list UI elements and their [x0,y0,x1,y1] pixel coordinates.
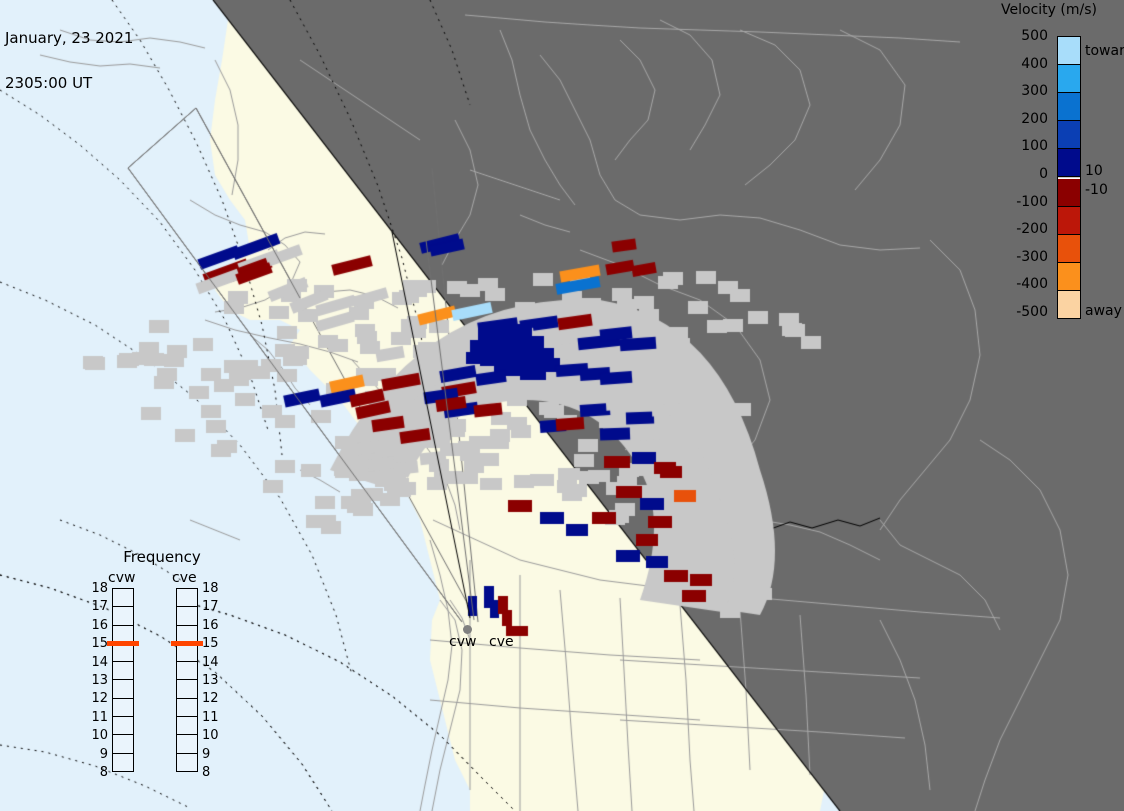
colorbar-away-label: away [1085,304,1122,318]
frequency-bar-segment [113,680,133,698]
velocity-colorbar: Velocity (m/s) 5004003002001000-100-200-… [975,0,1124,340]
frequency-bar-segment [177,754,197,771]
frequency-bar-segment [177,644,197,662]
frequency-tick-label-left: 13 [88,674,108,687]
timestamp-title: January, 23 2021 2305:00 UT [5,1,133,121]
frequency-tick-label-left: 18 [88,582,108,595]
frequency-bar-segment [177,589,197,607]
colorbar-band [1058,120,1080,148]
frequency-tick-label-left: 12 [88,692,108,705]
colorbar-tick-label: -300 [988,250,1048,264]
frequency-marker-cve [171,641,203,646]
title-time: 2305:00 UT [5,76,133,91]
colorbar-tick-label: -200 [988,222,1048,236]
frequency-tick-label-right: 18 [202,582,219,595]
colorbar-band [1058,290,1080,318]
frequency-bar-segment [177,717,197,735]
radar-site-label-cvw: cvw [449,634,476,650]
frequency-bar-segment [177,662,197,680]
colorbar-tick-label: 400 [988,57,1048,71]
frequency-bar-segment [113,717,133,735]
colorbar-tick-label: -500 [988,305,1048,319]
colorbar-band [1058,37,1080,64]
colorbar-band [1058,148,1080,176]
frequency-tick-label-right: 11 [202,711,219,724]
frequency-bar-segment [177,607,197,625]
frequency-legend-title: Frequency [84,548,240,566]
frequency-tick-label-right: 9 [202,748,210,761]
colorbar-band [1058,179,1080,206]
frequency-bar-cve [176,588,198,772]
frequency-tick-label-left: 11 [88,711,108,724]
frequency-bar-cvw [112,588,134,772]
frequency-tick-label-right: 10 [202,729,219,742]
radar-site-marker [463,625,472,634]
colorbar-tick-label: 500 [988,29,1048,43]
colorbar-positive-threshold-label: 10 [1085,164,1103,178]
frequency-tick-label-left: 9 [88,748,108,761]
frequency-column-label-cvw: cvw [108,570,135,586]
colorbar-tick-label: 200 [988,112,1048,126]
frequency-bar-segment [113,662,133,680]
frequency-bar-segment [177,699,197,717]
frequency-tick-label-right: 15 [202,637,219,650]
colorbar-negative-threshold-label: -10 [1085,183,1108,197]
title-date: January, 23 2021 [5,31,133,46]
colorbar-tick-label: -100 [988,195,1048,209]
frequency-marker-cvw [107,641,139,646]
colorbar-tick-label: 300 [988,84,1048,98]
frequency-bar-segment [113,699,133,717]
frequency-legend: Frequency cvwcve181817171616151514141313… [84,548,240,786]
colorbar-band [1058,92,1080,120]
frequency-tick-label-right: 17 [202,600,219,613]
frequency-tick-label-left: 15 [88,637,108,650]
frequency-tick-label-left: 16 [88,619,108,632]
frequency-bar-segment [113,644,133,662]
colorbar-tick-label: 0 [988,167,1048,181]
frequency-bar-segment [113,735,133,753]
radar-map-page: January, 23 2021 2305:00 UT Velocity (m/… [0,0,1124,811]
frequency-tick-label-right: 14 [202,656,219,669]
frequency-column-label-cve: cve [172,570,197,586]
colorbar-gradient [1057,36,1081,319]
frequency-tick-label-left: 17 [88,600,108,613]
frequency-tick-label-left: 14 [88,656,108,669]
frequency-tick-label-left: 10 [88,729,108,742]
frequency-bar-segment [113,754,133,771]
frequency-bar-segment [113,589,133,607]
frequency-tick-label-right: 13 [202,674,219,687]
frequency-tick-label-right: 8 [202,766,210,779]
colorbar-toward-label: toward [1085,44,1124,58]
colorbar-tick-label: 100 [988,139,1048,153]
colorbar-band [1058,64,1080,92]
frequency-tick-label-right: 12 [202,692,219,705]
frequency-bar-segment [177,680,197,698]
colorbar-title: Velocity (m/s) [975,2,1123,18]
colorbar-band [1058,206,1080,234]
colorbar-band [1058,234,1080,262]
frequency-bar-segment [177,735,197,753]
colorbar-band [1058,262,1080,290]
radar-site-label-cve: cve [489,634,514,650]
frequency-bar-segment [113,607,133,625]
frequency-tick-label-left: 8 [88,766,108,779]
frequency-tick-label-right: 16 [202,619,219,632]
colorbar-tick-label: -400 [988,277,1048,291]
